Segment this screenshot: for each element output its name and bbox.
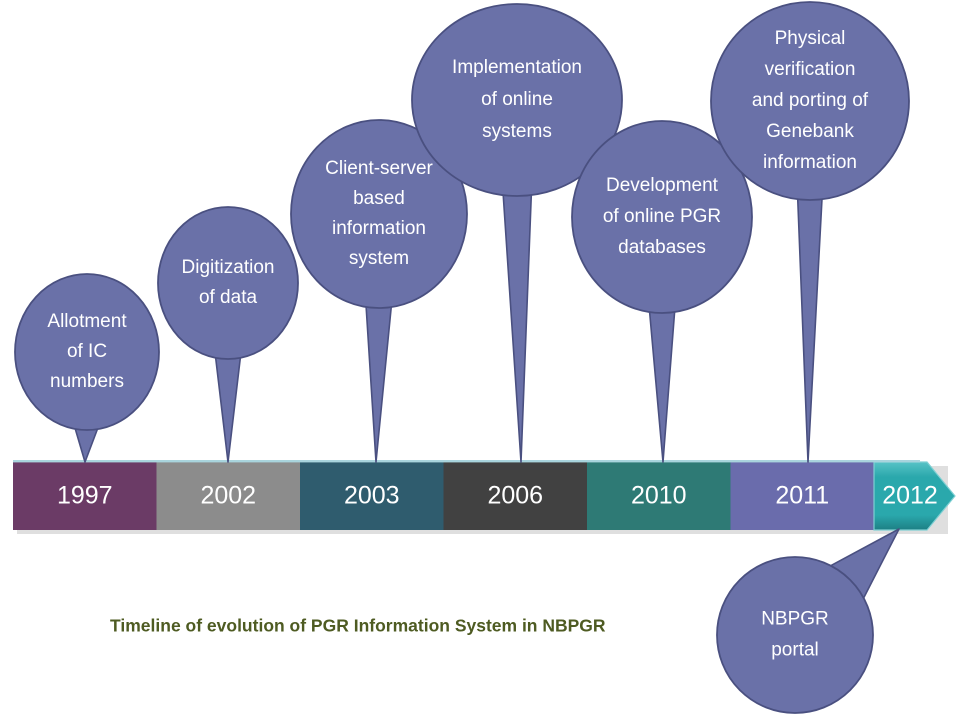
callout-1997[interactable]: Allotmentof ICnumbers	[15, 274, 159, 462]
callout-text-line: Physical	[775, 28, 846, 49]
timeline-segment-2010[interactable]: 2010	[587, 462, 731, 530]
callout-text-line: and porting of	[752, 90, 869, 111]
segment-year-label: 2003	[344, 482, 400, 510]
segment-year-label: 2006	[487, 482, 543, 510]
callout-2003[interactable]: Client-serverbasedinformationsystem	[291, 120, 467, 462]
callout-bubble	[158, 207, 298, 359]
callout-text-line: of IC	[67, 341, 107, 362]
callout-text-line: Digitization	[182, 257, 275, 278]
callout-text-line: based	[353, 188, 405, 209]
callout-text-line: system	[349, 248, 409, 269]
timeline-segment-2002[interactable]: 2002	[157, 462, 301, 530]
segment-year-label: 2010	[631, 482, 687, 510]
bar-top-edge	[13, 460, 920, 462]
portal-callout-text-line: portal	[771, 640, 819, 661]
callout-tail	[797, 180, 823, 462]
callout-text-line: databases	[618, 237, 706, 258]
segment-year-label: 2011	[775, 482, 829, 510]
timeline-segment-2003[interactable]: 2003	[300, 462, 444, 530]
callout-tail	[214, 344, 242, 462]
callout-text-line: verification	[765, 59, 856, 80]
callout-text-line: numbers	[50, 371, 124, 392]
callout-text-line: Genebank	[766, 121, 854, 142]
callout-text-line: of online	[481, 89, 553, 110]
callout-tail	[365, 289, 393, 462]
callout-text-line: information	[332, 218, 426, 239]
callout-text-line: of online PGR	[603, 206, 721, 227]
portal-callout-group: NBPGRportal	[717, 529, 899, 713]
callout-tail	[648, 294, 676, 462]
portal-callout-text-line: NBPGR	[761, 609, 829, 630]
callout-text-line: Implementation	[452, 57, 582, 78]
timeline-segment-2011[interactable]: 2011	[731, 462, 875, 530]
callout-text-line: of data	[199, 287, 258, 308]
callout-2010[interactable]: Developmentof online PGRdatabases	[572, 121, 752, 462]
callout-text-line: Allotment	[47, 311, 127, 332]
callout-portal[interactable]: NBPGRportal	[717, 529, 899, 713]
callout-text-line: information	[763, 152, 857, 173]
callout-text-line: Client-server	[325, 158, 433, 179]
diagram-caption: Timeline of evolution of PGR Information…	[110, 616, 606, 636]
callout-text-line: Development	[606, 175, 719, 196]
timeline-segment-2006[interactable]: 2006	[444, 462, 588, 530]
diagram-canvas: 1997200220032006201020112012 Allotmentof…	[0, 0, 960, 720]
portal-callout-bubble	[717, 557, 873, 713]
callout-text-line: systems	[482, 121, 552, 142]
callout-tail	[502, 177, 532, 462]
timeline-bar: 1997200220032006201020112012	[13, 460, 955, 534]
timeline-diagram: 1997200220032006201020112012 Allotmentof…	[0, 0, 960, 720]
timeline-segment-1997[interactable]: 1997	[13, 462, 157, 530]
segment-year-label: 1997	[57, 482, 113, 510]
callout-2002[interactable]: Digitizationof data	[158, 207, 298, 462]
segment-year-label: 2002	[200, 482, 256, 510]
segment-year-label: 2012	[882, 482, 938, 510]
callout-bubbles: Allotmentof ICnumbersDigitizationof data…	[15, 2, 909, 462]
